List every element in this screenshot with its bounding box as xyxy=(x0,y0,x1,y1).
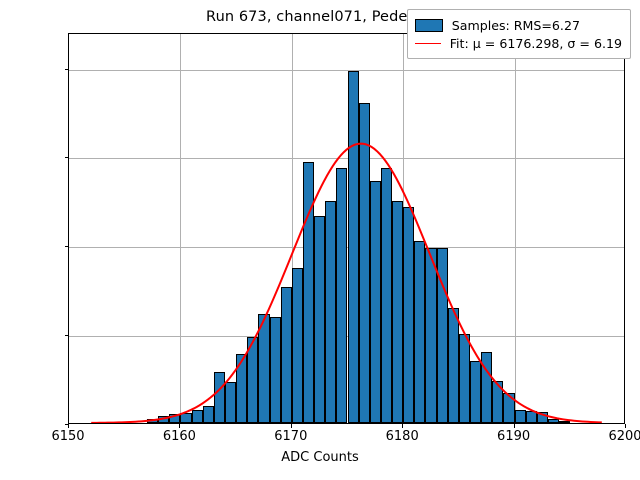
y-tick-mark xyxy=(65,157,69,158)
x-tick-label: 6180 xyxy=(362,429,442,444)
legend-entry-fit: Fit: μ = 6176.298, σ = 6.19 xyxy=(415,34,622,52)
chart-legend: Samples: RMS=6.27 Fit: μ = 6176.298, σ =… xyxy=(407,9,631,59)
y-axis-label: Entries xyxy=(0,173,2,218)
y-tick-mark xyxy=(65,69,69,70)
x-tick-mark xyxy=(291,424,292,428)
legend-swatch-samples-icon xyxy=(415,19,443,32)
plot-area xyxy=(68,33,625,424)
x-axis-label: ADC Counts xyxy=(0,450,640,465)
y-tick-mark xyxy=(65,246,69,247)
legend-entry-samples: Samples: RMS=6.27 xyxy=(415,16,622,34)
y-tick-mark xyxy=(65,335,69,336)
fit-polyline xyxy=(91,144,602,423)
x-tick-mark xyxy=(625,424,626,428)
x-tick-label: 6200 xyxy=(585,429,640,444)
legend-line-fit-icon xyxy=(415,43,441,44)
x-tick-mark xyxy=(179,424,180,428)
legend-label-samples: Samples: RMS=6.27 xyxy=(452,18,580,33)
x-tick-label: 6160 xyxy=(139,429,219,444)
x-tick-mark xyxy=(402,424,403,428)
histogram-figure: Run 673, channel071, Pedestal Entries AD… xyxy=(0,0,640,480)
x-tick-mark xyxy=(514,424,515,428)
x-tick-label: 6150 xyxy=(28,429,108,444)
x-tick-mark xyxy=(68,424,69,428)
gaussian-fit-curve xyxy=(69,34,624,423)
legend-label-fit: Fit: μ = 6176.298, σ = 6.19 xyxy=(450,36,622,51)
x-tick-label: 6190 xyxy=(474,429,554,444)
x-tick-label: 6170 xyxy=(251,429,331,444)
